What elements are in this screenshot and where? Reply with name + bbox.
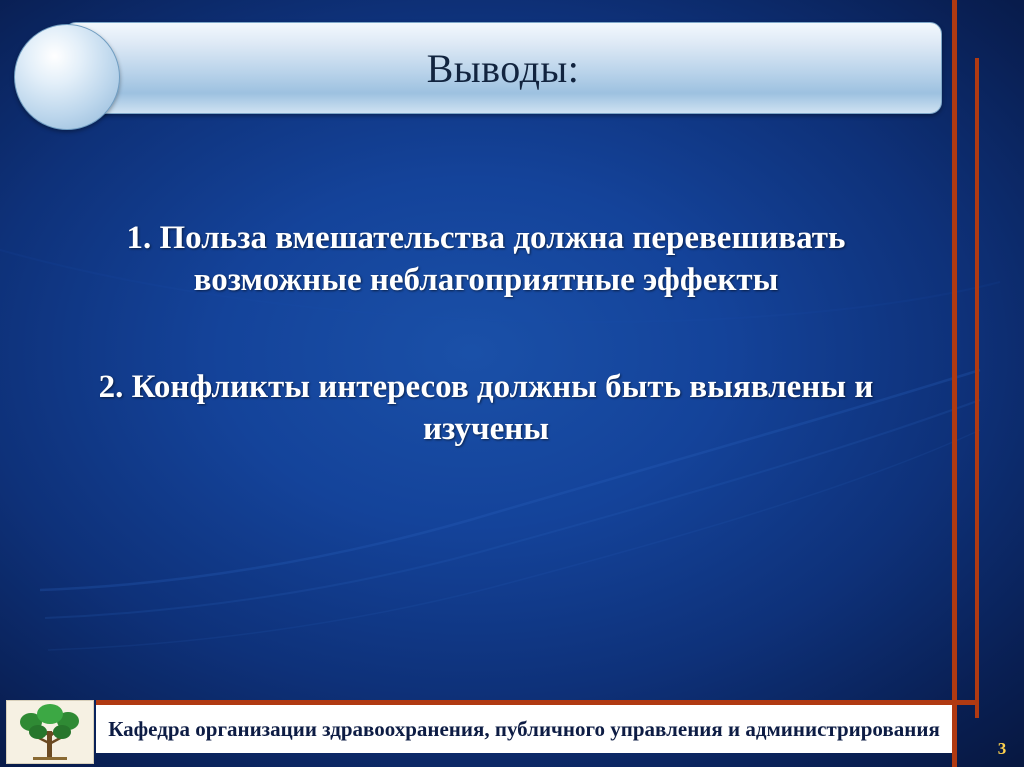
- slide-body: 1. Польза вмешательства должна перевешив…: [48, 218, 924, 450]
- department-logo: [6, 700, 94, 764]
- title-plate: Выводы:: [64, 22, 942, 114]
- page-title: Выводы:: [427, 45, 580, 92]
- footer-strip: Кафедра организации здравоохранения, пуб…: [96, 705, 952, 753]
- page-number: 3: [988, 736, 1016, 762]
- conclusion-item-2: 2. Конфликты интересов должны быть выявл…: [48, 367, 924, 450]
- vertical-rule-outer: [952, 0, 957, 767]
- tree-logo-icon: [7, 701, 93, 763]
- slide-title-bar: Выводы:: [12, 22, 940, 112]
- vertical-rule-inner: [975, 58, 979, 718]
- title-bullet-circle-decoration: [14, 24, 120, 130]
- slide-canvas: Выводы: 1. Польза вмешательства должна п…: [0, 0, 1024, 767]
- conclusion-item-1: 1. Польза вмешательства должна перевешив…: [48, 218, 924, 301]
- footer-department-text: Кафедра организации здравоохранения, пуб…: [96, 705, 952, 753]
